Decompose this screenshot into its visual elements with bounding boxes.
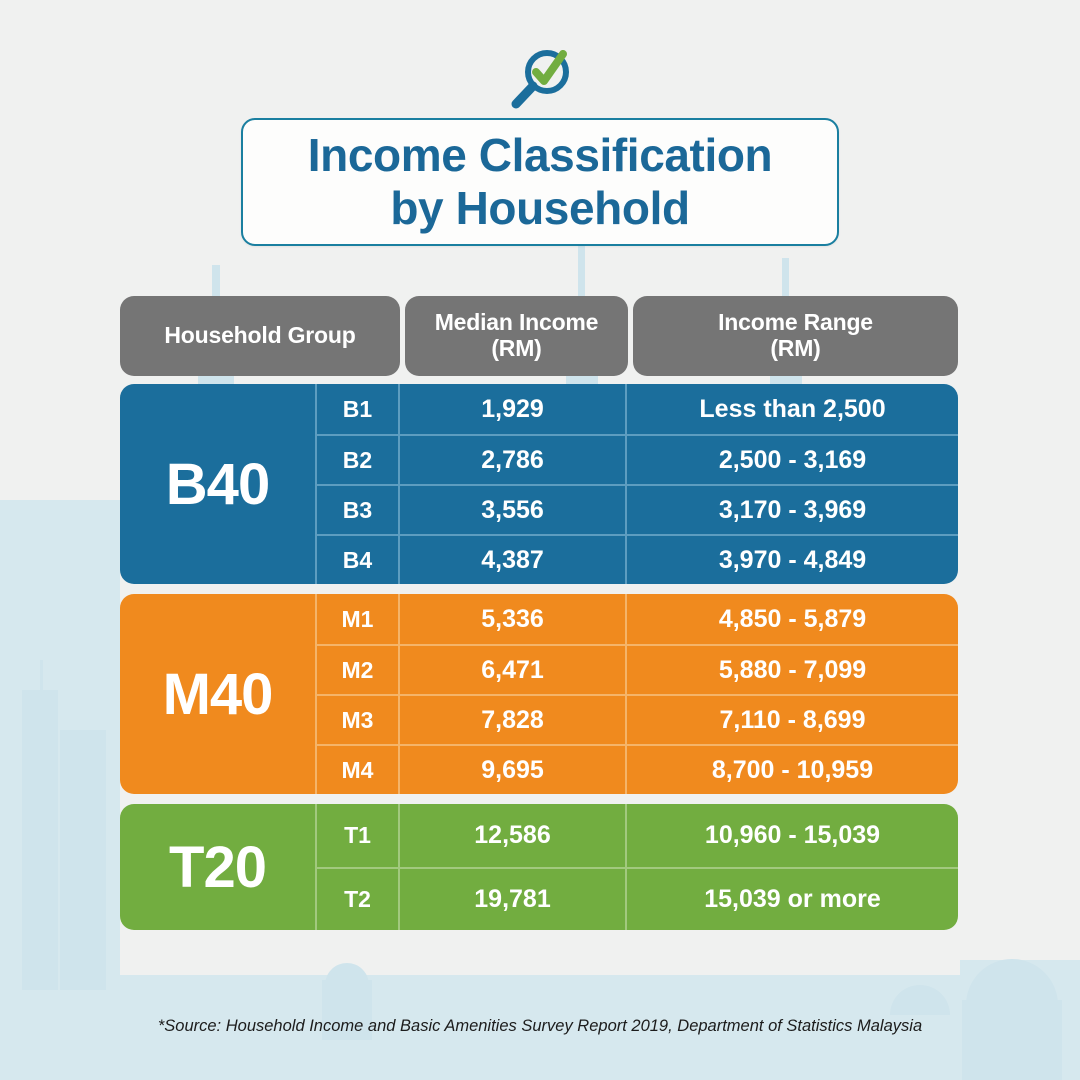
cell-median: 3,556 bbox=[400, 486, 627, 534]
table-row: M4 9,695 8,700 - 10,959 bbox=[315, 744, 958, 794]
cell-range: 10,960 - 15,039 bbox=[627, 804, 958, 867]
source-note: *Source: Household Income and Basic Amen… bbox=[0, 1017, 1080, 1036]
header-income-range-line1: Income Range bbox=[718, 309, 873, 335]
table-row: M2 6,471 5,880 - 7,099 bbox=[315, 644, 958, 694]
table-row: B2 2,786 2,500 - 3,169 bbox=[315, 434, 958, 484]
cell-median: 5,336 bbox=[400, 594, 627, 644]
cell-median: 4,387 bbox=[400, 536, 627, 584]
cell-range: 3,970 - 4,849 bbox=[627, 536, 958, 584]
cell-subgroup: M3 bbox=[315, 696, 400, 744]
table-row: T1 12,586 10,960 - 15,039 bbox=[315, 804, 958, 867]
group-label-m40: M40 bbox=[120, 594, 315, 794]
cell-subgroup: B3 bbox=[315, 486, 400, 534]
cell-subgroup: T1 bbox=[315, 804, 400, 867]
header-median-income-line1: Median Income bbox=[435, 309, 599, 335]
page-title-line2: by Household bbox=[390, 182, 689, 235]
page-title: Income Classification by Household bbox=[241, 118, 839, 246]
cell-range: 5,880 - 7,099 bbox=[627, 646, 958, 694]
group-rows-m40: M1 5,336 4,850 - 5,879 M2 6,471 5,880 - … bbox=[315, 594, 958, 794]
page-title-line1: Income Classification bbox=[308, 129, 773, 182]
cell-range: 15,039 or more bbox=[627, 869, 958, 930]
cell-median: 19,781 bbox=[400, 869, 627, 930]
cell-median: 12,586 bbox=[400, 804, 627, 867]
cell-subgroup: T2 bbox=[315, 869, 400, 930]
header-median-income-label: Median Income (RM) bbox=[435, 310, 599, 362]
cell-subgroup: B2 bbox=[315, 436, 400, 484]
group-rows-b40: B1 1,929 Less than 2,500 B2 2,786 2,500 … bbox=[315, 384, 958, 584]
cell-subgroup: M4 bbox=[315, 746, 400, 794]
header-median-income: Median Income (RM) bbox=[405, 296, 628, 376]
header-household-group-label: Household Group bbox=[164, 323, 355, 349]
table-row: B1 1,929 Less than 2,500 bbox=[315, 384, 958, 434]
group-block-t20: T20 T1 12,586 10,960 - 15,039 T2 19,781 … bbox=[120, 804, 958, 930]
cell-median: 1,929 bbox=[400, 384, 627, 434]
cell-median: 9,695 bbox=[400, 746, 627, 794]
cell-subgroup: M2 bbox=[315, 646, 400, 694]
cell-median: 7,828 bbox=[400, 696, 627, 744]
table-row: T2 19,781 15,039 or more bbox=[315, 867, 958, 930]
table-row: B3 3,556 3,170 - 3,969 bbox=[315, 484, 958, 534]
income-classification-table: Household Group Median Income (RM) Incom… bbox=[120, 296, 958, 940]
header-income-range-line2: (RM) bbox=[770, 335, 820, 361]
header-median-income-line2: (RM) bbox=[491, 335, 541, 361]
cell-range: 7,110 - 8,699 bbox=[627, 696, 958, 744]
header-household-group: Household Group bbox=[120, 296, 400, 376]
cell-range: 4,850 - 5,879 bbox=[627, 594, 958, 644]
group-label-t20: T20 bbox=[120, 804, 315, 930]
group-block-m40: M40 M1 5,336 4,850 - 5,879 M2 6,471 5,88… bbox=[120, 594, 958, 794]
header-income-range-label: Income Range (RM) bbox=[718, 310, 873, 362]
cell-range: 3,170 - 3,969 bbox=[627, 486, 958, 534]
table-row: M1 5,336 4,850 - 5,879 bbox=[315, 594, 958, 644]
cell-range: 8,700 - 10,959 bbox=[627, 746, 958, 794]
table-header-row: Household Group Median Income (RM) Incom… bbox=[120, 296, 958, 376]
header-income-range: Income Range (RM) bbox=[633, 296, 958, 376]
infographic-root: Income Classification by Household House… bbox=[0, 0, 1080, 1080]
cell-subgroup: B4 bbox=[315, 536, 400, 584]
cell-range: Less than 2,500 bbox=[627, 384, 958, 434]
group-block-b40: B40 B1 1,929 Less than 2,500 B2 2,786 2,… bbox=[120, 384, 958, 584]
logo-container bbox=[0, 44, 1080, 118]
magnifier-check-icon bbox=[503, 44, 577, 118]
cell-subgroup: B1 bbox=[315, 384, 400, 434]
table-row: M3 7,828 7,110 - 8,699 bbox=[315, 694, 958, 744]
group-label-b40: B40 bbox=[120, 384, 315, 584]
cell-median: 2,786 bbox=[400, 436, 627, 484]
group-rows-t20: T1 12,586 10,960 - 15,039 T2 19,781 15,0… bbox=[315, 804, 958, 930]
cell-subgroup: M1 bbox=[315, 594, 400, 644]
table-row: B4 4,387 3,970 - 4,849 bbox=[315, 534, 958, 584]
cell-range: 2,500 - 3,169 bbox=[627, 436, 958, 484]
cell-median: 6,471 bbox=[400, 646, 627, 694]
